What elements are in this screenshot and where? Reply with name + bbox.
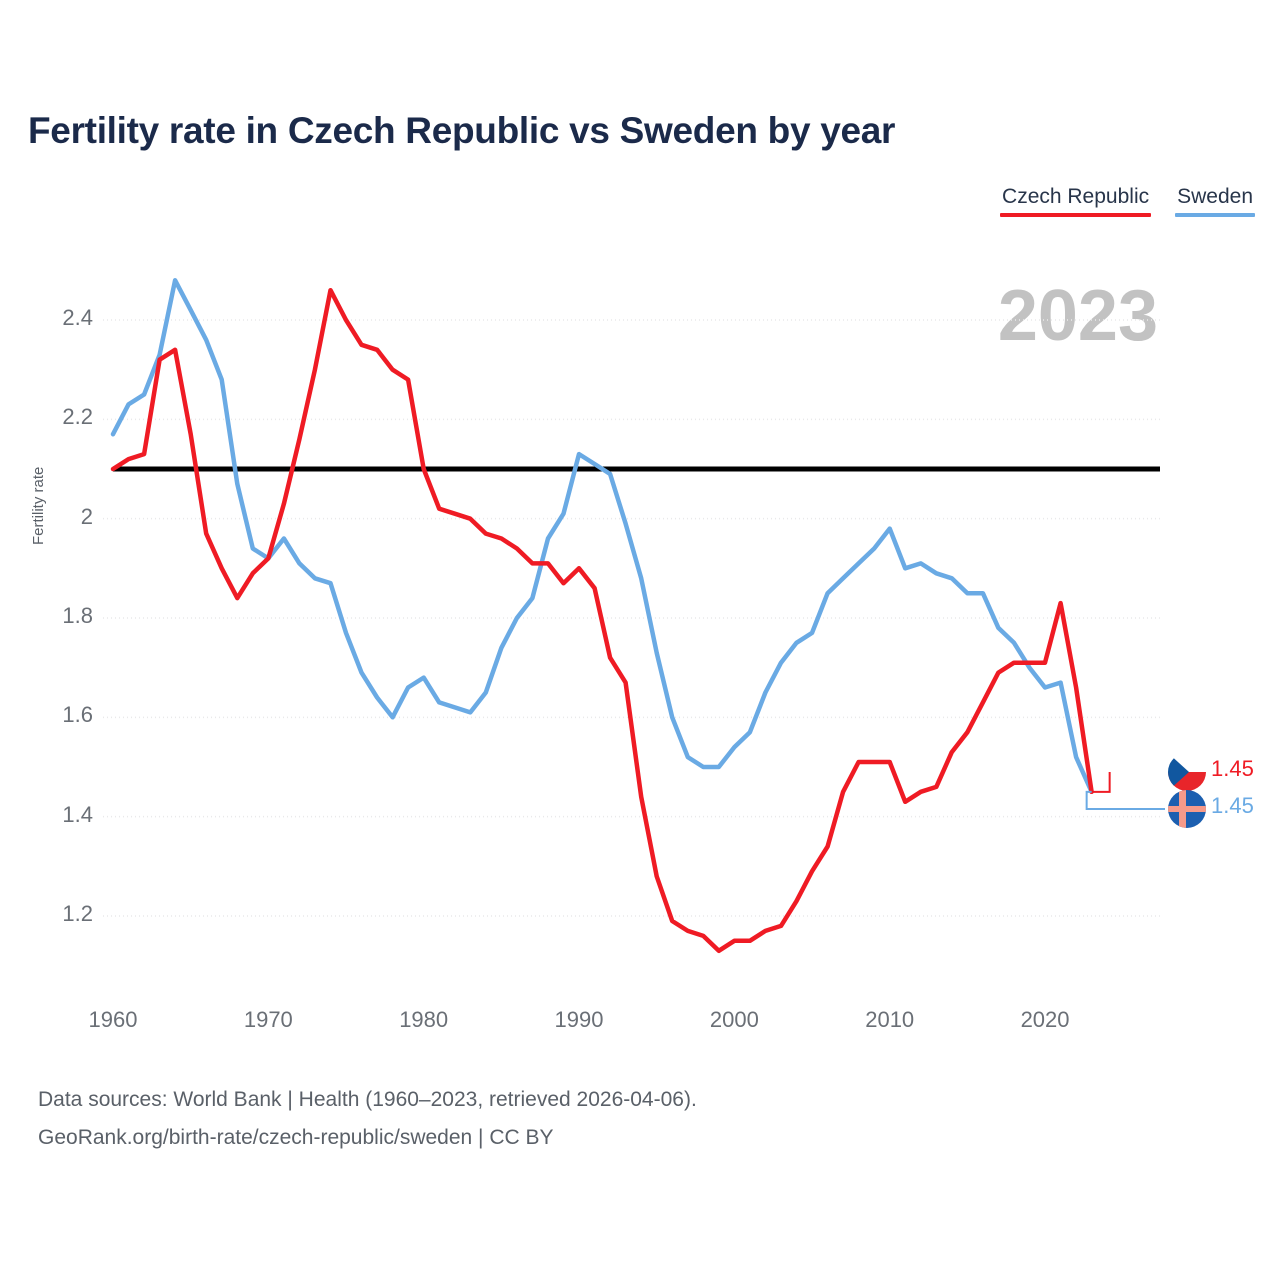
sweden-flag-icon — [1168, 790, 1206, 828]
end-leader-sweden — [1087, 792, 1165, 809]
footer-data-sources: Data sources: World Bank | Health (1960–… — [38, 1088, 697, 1112]
flag-triangle-blue — [1168, 753, 1189, 791]
flag-cross-vertical — [1179, 790, 1185, 828]
end-leader-czech-republic — [1092, 772, 1110, 792]
end-value-czech-republic: 1.45 — [1211, 756, 1254, 782]
end-value-sweden: 1.45 — [1211, 793, 1254, 819]
footer-attribution: GeoRank.org/birth-rate/czech-republic/sw… — [38, 1126, 554, 1150]
gridlines — [103, 320, 1160, 916]
fertility-rate-chart: Fertility rate in Czech Republic vs Swed… — [0, 0, 1280, 1280]
series-line-czech-republic — [113, 290, 1092, 951]
series-line-sweden — [113, 280, 1092, 792]
czech-republic-flag-icon — [1168, 753, 1206, 791]
flag-cross-horizontal — [1168, 806, 1206, 812]
